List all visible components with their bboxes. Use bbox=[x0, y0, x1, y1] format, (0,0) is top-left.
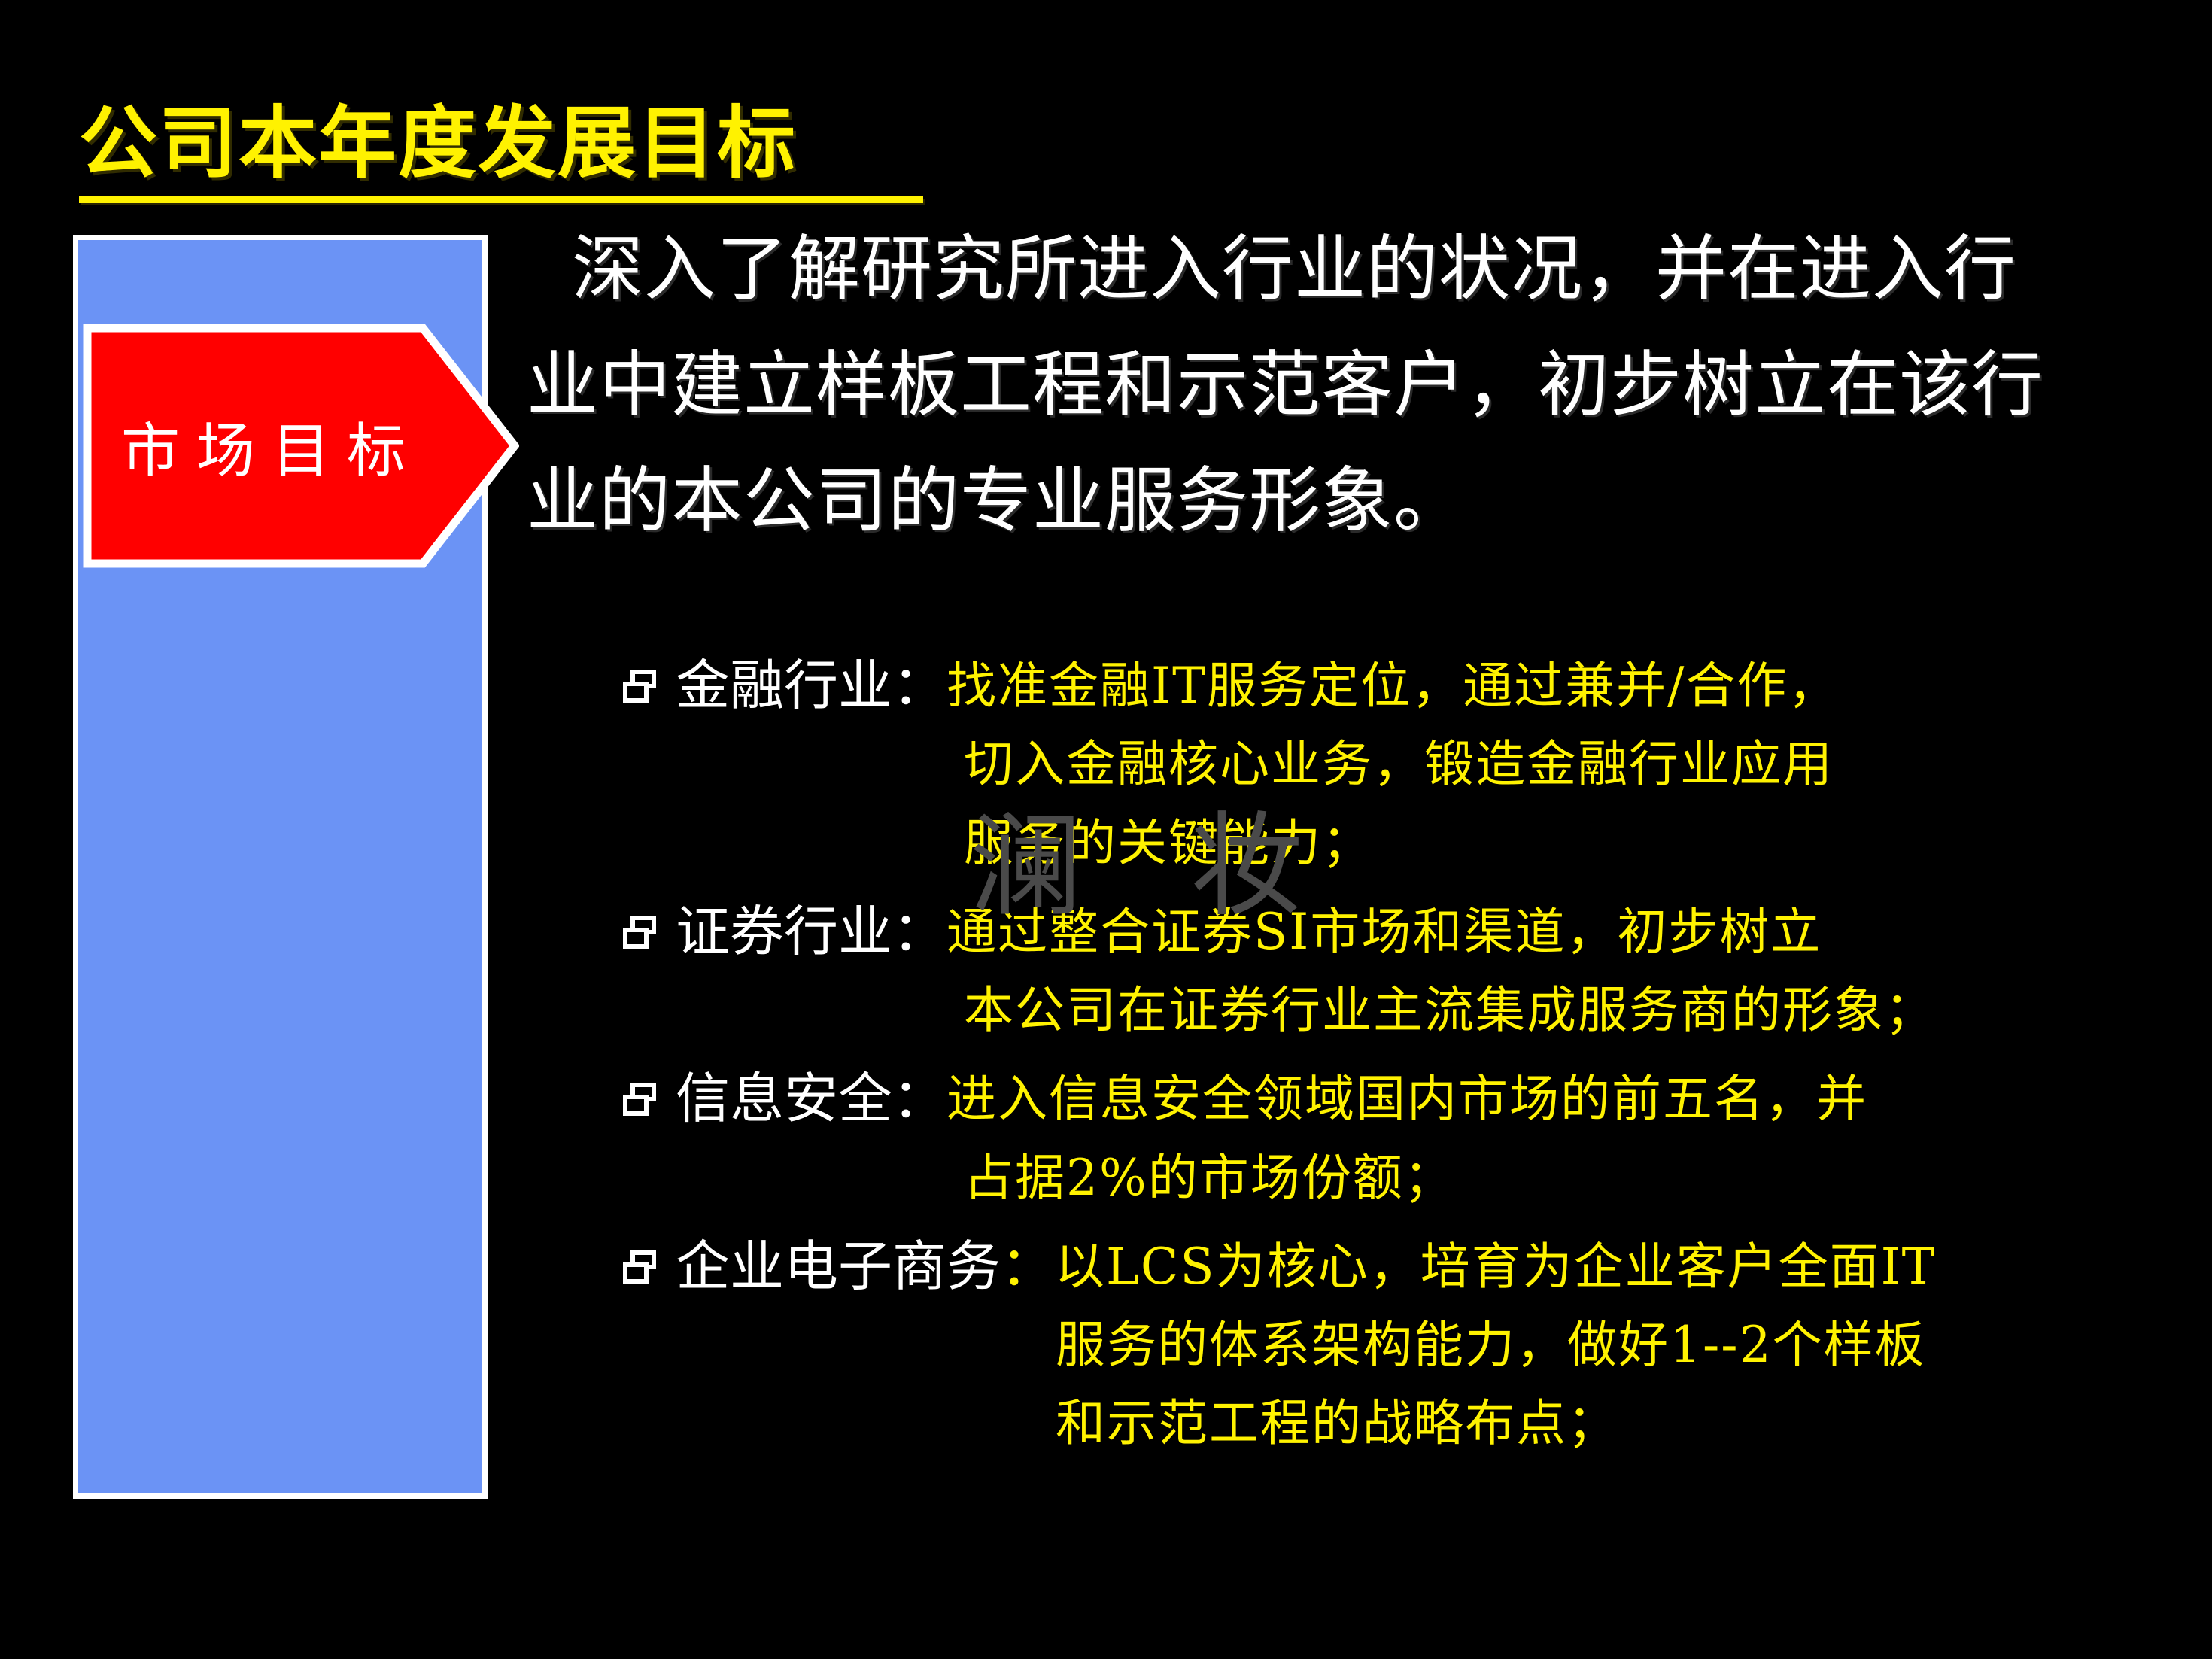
bullet-label: 企业电子商务： bbox=[676, 1228, 1055, 1306]
lead-paragraph: 深入了解研究所进入行业的状况，并在进入行业中建立样板工程和示范客户，初步树立在该… bbox=[527, 212, 2054, 560]
bullet-label-colon: ： bbox=[892, 1067, 946, 1130]
bullet-line: 以LCS为核心，培育为企业客户全面IT bbox=[1055, 1228, 2173, 1306]
list-item[interactable]: 信息安全： 进入信息安全领域国内市场的前五名，并 占据2%的市场份额； bbox=[623, 1060, 2173, 1217]
bullet-label-text: 企业电子商务 bbox=[676, 1235, 1001, 1298]
bullet-line: 通过整合证券SI市场和渠道，初步树立 bbox=[946, 893, 2173, 971]
market-goal-arrow-banner[interactable]: 市场目标 bbox=[83, 324, 519, 568]
bullet-label-colon: ： bbox=[892, 900, 946, 963]
goal-bullet-list: 金融行业： 找准金融IT服务定位，通过兼并/合作， 切入金融核心业务，锻造金融行… bbox=[623, 647, 2173, 1474]
bullet-line: 进入信息安全领域国内市场的前五名，并 bbox=[946, 1060, 2173, 1138]
bullet-line: 服务的关键能力； bbox=[623, 804, 2173, 883]
two-overlapping-rectangles-icon bbox=[623, 1250, 658, 1285]
page-title-underline bbox=[79, 196, 923, 203]
list-item[interactable]: 证券行业： 通过整合证券SI市场和渠道，初步树立 本公司在证券行业主流集成服务商… bbox=[623, 893, 2173, 1050]
bullet-label-colon: ： bbox=[892, 654, 946, 717]
bullet-line: 本公司在证券行业主流集成服务商的形象； bbox=[623, 971, 2173, 1050]
two-overlapping-rectangles-icon bbox=[623, 916, 658, 950]
bullet-head: 金融行业： 找准金融IT服务定位，通过兼并/合作， bbox=[623, 647, 2173, 725]
list-item[interactable]: 金融行业： 找准金融IT服务定位，通过兼并/合作， 切入金融核心业务，锻造金融行… bbox=[623, 647, 2173, 883]
bullet-head: 企业电子商务： 以LCS为核心，培育为企业客户全面IT bbox=[623, 1228, 2173, 1306]
market-goal-label: 市场目标 bbox=[83, 324, 444, 568]
two-overlapping-rectangles-icon bbox=[623, 670, 658, 704]
page-title-block: 公司本年度发展目标 bbox=[79, 102, 1057, 184]
bullet-line: 和示范工程的战略布点； bbox=[623, 1384, 2173, 1463]
bullet-label-text: 信息安全 bbox=[676, 1067, 892, 1130]
list-item[interactable]: 企业电子商务： 以LCS为核心，培育为企业客户全面IT 服务的体系架构能力，做好… bbox=[623, 1228, 2173, 1463]
bullet-label: 信息安全： bbox=[676, 1060, 946, 1138]
bullet-line: 占据2%的市场份额； bbox=[623, 1139, 2173, 1217]
bullet-line: 服务的体系架构能力，做好1--2个样板 bbox=[623, 1306, 2173, 1384]
bullet-head: 证券行业： 通过整合证券SI市场和渠道，初步树立 bbox=[623, 893, 2173, 971]
slide-canvas: 公司本年度发展目标 市场目标 深入了解研究所进入行业的状况，并在进入行业中建立样… bbox=[0, 0, 2212, 1659]
bullet-line: 找准金融IT服务定位，通过兼并/合作， bbox=[946, 647, 2173, 725]
page-title: 公司本年度发展目标 bbox=[79, 102, 1057, 184]
bullet-line: 切入金融核心业务，锻造金融行业应用 bbox=[623, 725, 2173, 804]
bullet-label: 证券行业： bbox=[676, 893, 946, 971]
bullet-label-colon: ： bbox=[1001, 1235, 1055, 1298]
two-overlapping-rectangles-icon bbox=[623, 1083, 658, 1117]
bullet-label-text: 金融行业 bbox=[676, 654, 892, 717]
bullet-head: 信息安全： 进入信息安全领域国内市场的前五名，并 bbox=[623, 1060, 2173, 1138]
bullet-label: 金融行业： bbox=[676, 647, 946, 725]
bullet-label-text: 证券行业 bbox=[676, 900, 892, 963]
